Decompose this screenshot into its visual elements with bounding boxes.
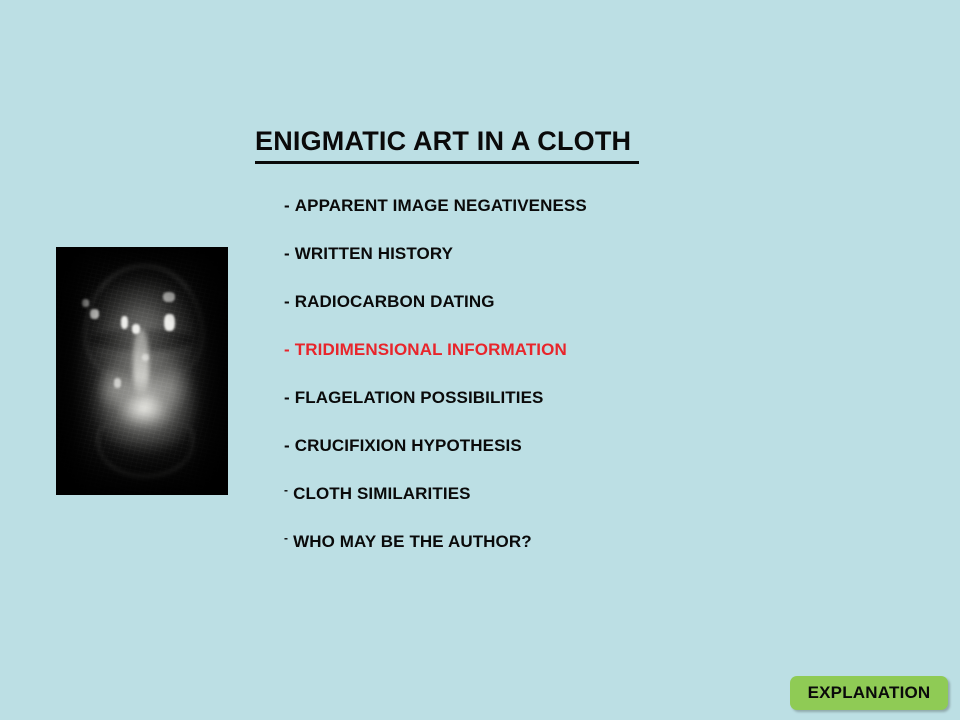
shroud-face-image <box>56 247 228 495</box>
bullet-dash-icon: - <box>284 532 288 546</box>
list-item[interactable]: -CRUCIFIXION HYPOTHESIS <box>284 436 704 484</box>
bullet-dash-icon: - <box>284 196 290 216</box>
bullet-dash-icon: - <box>284 388 290 408</box>
presentation-slide: ENIGMATIC ART IN A CLOTH -APPARENT IMAGE… <box>0 0 960 720</box>
bullet-dash-icon: - <box>284 292 290 312</box>
list-item[interactable]: -CLOTH SIMILARITIES <box>284 484 704 532</box>
explanation-button-label: EXPLANATION <box>808 683 931 703</box>
list-item-label: RADIOCARBON DATING <box>295 292 495 312</box>
list-item-label: APPARENT IMAGE NEGATIVENESS <box>295 196 587 216</box>
list-item-label: FLAGELATION POSSIBILITIES <box>295 388 544 408</box>
list-item-label: WRITTEN HISTORY <box>295 244 453 264</box>
explanation-button[interactable]: EXPLANATION <box>790 676 948 710</box>
list-item-label: TRIDIMENSIONAL INFORMATION <box>295 340 567 360</box>
list-item[interactable]: -RADIOCARBON DATING <box>284 292 704 340</box>
bullet-dash-icon: - <box>284 436 290 456</box>
bullet-dash-icon: - <box>284 244 290 264</box>
vignette-layer <box>56 247 228 495</box>
list-item[interactable]: -WRITTEN HISTORY <box>284 244 704 292</box>
list-item[interactable]: -WHO MAY BE THE AUTHOR? <box>284 532 704 580</box>
list-item[interactable]: -APPARENT IMAGE NEGATIVENESS <box>284 196 704 244</box>
bullet-dash-icon: - <box>284 484 288 498</box>
topic-list: -APPARENT IMAGE NEGATIVENESS-WRITTEN HIS… <box>284 196 704 580</box>
list-item-label: CLOTH SIMILARITIES <box>293 484 470 504</box>
list-item-label: CRUCIFIXION HYPOTHESIS <box>295 436 522 456</box>
list-item[interactable]: -FLAGELATION POSSIBILITIES <box>284 388 704 436</box>
list-item-label: WHO MAY BE THE AUTHOR? <box>293 532 532 552</box>
bullet-dash-icon: - <box>284 340 290 360</box>
page-title: ENIGMATIC ART IN A CLOTH <box>255 126 639 164</box>
list-item[interactable]: -TRIDIMENSIONAL INFORMATION <box>284 340 704 388</box>
